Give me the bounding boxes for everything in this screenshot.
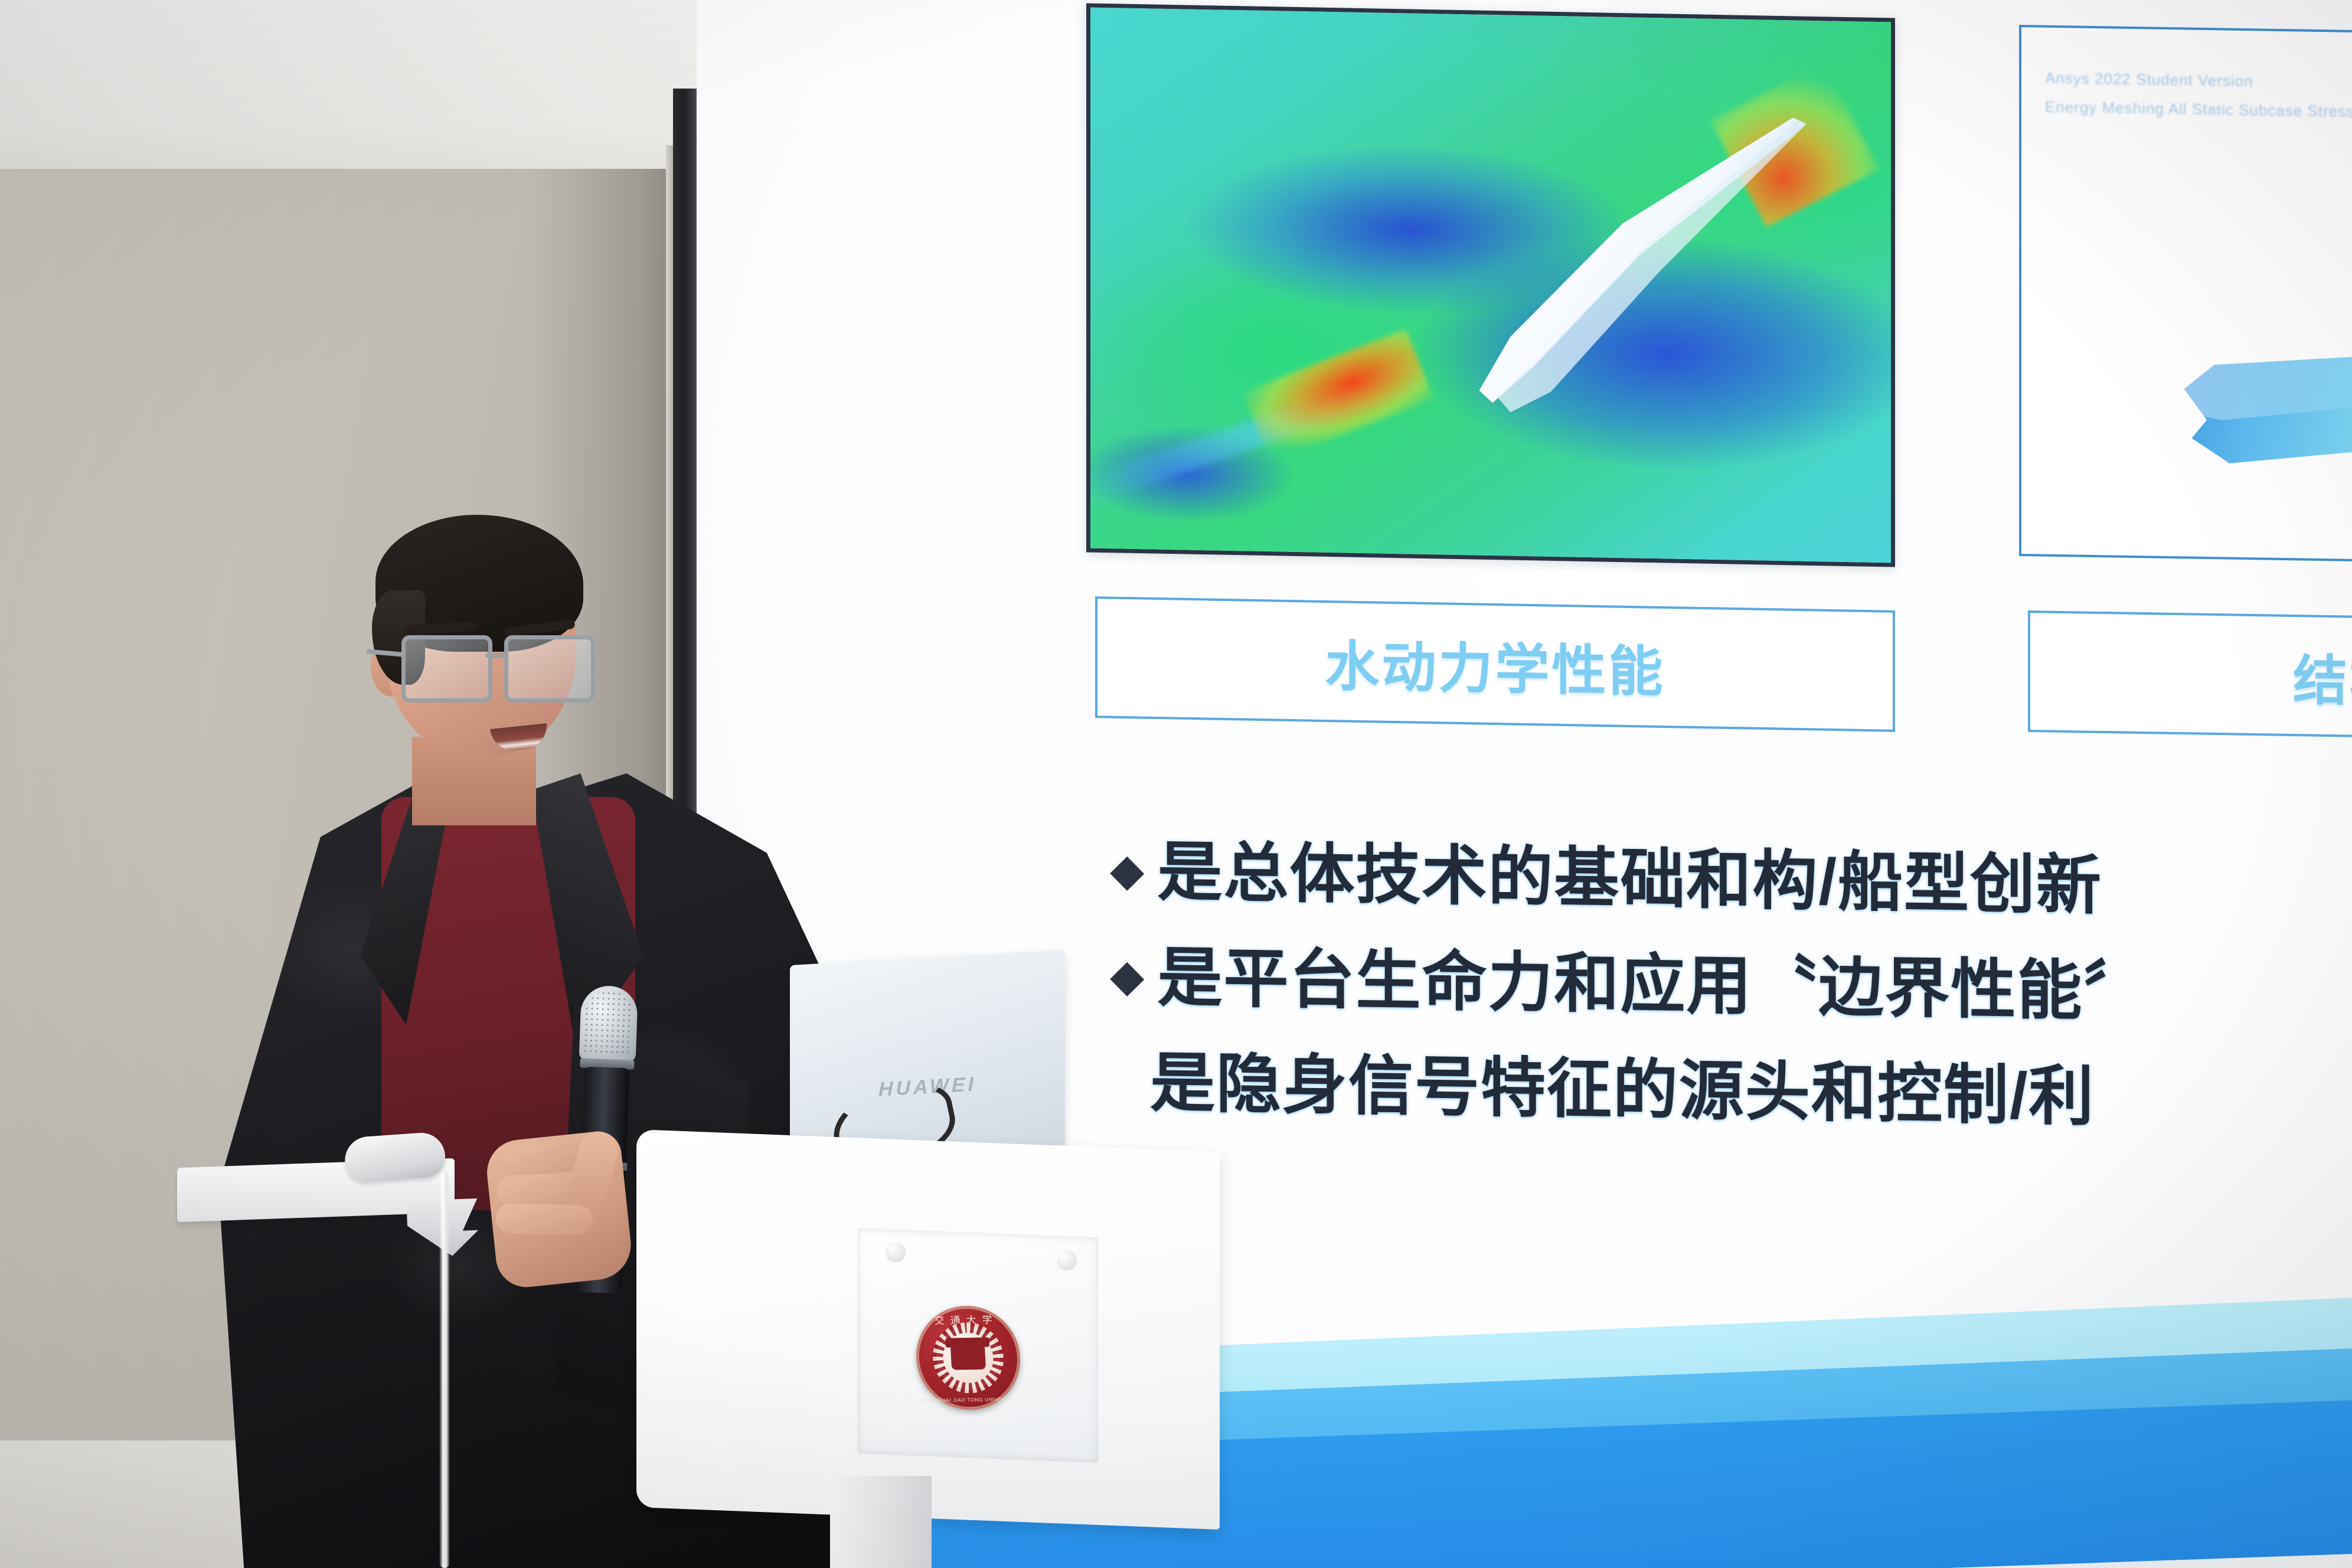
fea-visualization-panel: Ansys 2022 Student Version Energy Meshin… <box>2019 25 2352 563</box>
diamond-bullet-icon: ◆ <box>1110 953 1144 999</box>
bullet-line-2: ◆ 是平台生命力和应用〝边界性能〞 <box>1110 940 2352 1032</box>
slide-bullet-list: ◆ 是总体技术的基础和构/船型创新 ◆ 是平台生命力和应用〝边界性能〞 是隐身信… <box>1110 844 2352 1162</box>
microphone-head <box>579 985 638 1062</box>
microphone-mesh <box>583 990 635 1056</box>
bullet-line-3: 是隐身信号特征的源头和控制/利 <box>1137 1047 2352 1138</box>
lectern-column <box>830 1476 932 1568</box>
bullet-text-3: 是隐身信号特征的源头和控制/利 <box>1150 1047 2095 1133</box>
bullet-text-2: 是平台生命力和应用〝边界性能〞 <box>1157 942 2149 1029</box>
lens-right <box>504 635 595 703</box>
fea-header-text: Ansys 2022 Student Version Energy Meshin… <box>2045 69 2352 133</box>
caption-box-hydrodynamics: 水动力学性能 <box>1095 596 1895 732</box>
ceiling-soffit <box>0 0 703 177</box>
caption-box-structure: 结构 <box>2028 610 2352 739</box>
suction-cup-left <box>886 1242 906 1262</box>
fea-header-line-1: Ansys 2022 Student Version <box>2045 69 2352 94</box>
eyeglasses <box>399 635 594 697</box>
bullet-text-1: 是总体技术的基础和构/船型创新 <box>1157 835 2102 922</box>
glasses-bridge <box>485 653 507 658</box>
caption-label-hydrodynamics: 水动力学性能 <box>1325 622 1665 706</box>
finger-ring <box>496 1204 593 1235</box>
wireless-mouse <box>344 1131 447 1183</box>
emblem-anvil-icon <box>950 1345 986 1370</box>
bullet-line-1: ◆ 是总体技术的基础和构/船型创新 <box>1110 835 2352 926</box>
presentation-photo: Ansys 2022 Student Version Energy Meshin… <box>0 0 2352 1568</box>
lens-left <box>401 635 492 703</box>
suction-cup-right <box>1057 1250 1077 1270</box>
emblem-center <box>935 1325 1002 1390</box>
caption-label-structure: 结构 <box>2098 633 2352 716</box>
cfd-visualization-panel <box>1086 3 1895 567</box>
diamond-bullet-icon: ◆ <box>1110 848 1144 893</box>
fea-header-line-2: Energy Meshing All Static Subcase Stress… <box>2045 98 2352 123</box>
power-cable <box>439 1172 450 1568</box>
